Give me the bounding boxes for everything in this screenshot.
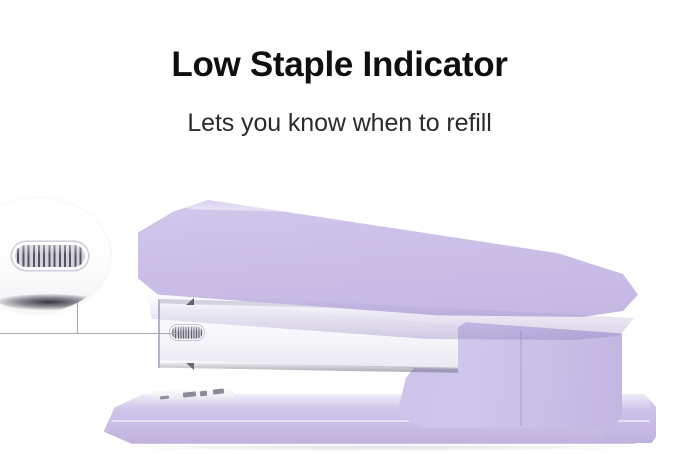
- product-feature-banner: Low Staple Indicator Lets you know when …: [0, 0, 679, 454]
- callout-leader-horizontal: [0, 333, 178, 334]
- indicator-gloss: [170, 325, 204, 332]
- magnifier-circle: [0, 198, 110, 312]
- stapler-base-left-cap: [100, 400, 120, 442]
- stapler-column-seam: [520, 330, 522, 426]
- magnified-indicator-window: [12, 242, 88, 270]
- page-title: Low Staple Indicator: [0, 47, 679, 84]
- page-subtitle: Lets you know when to refill: [0, 110, 679, 138]
- magnified-bottom-shadow: [0, 294, 102, 310]
- magnified-indicator-gloss: [12, 242, 88, 255]
- product-ground-shadow: [110, 444, 650, 451]
- anvil-marking: [200, 391, 207, 397]
